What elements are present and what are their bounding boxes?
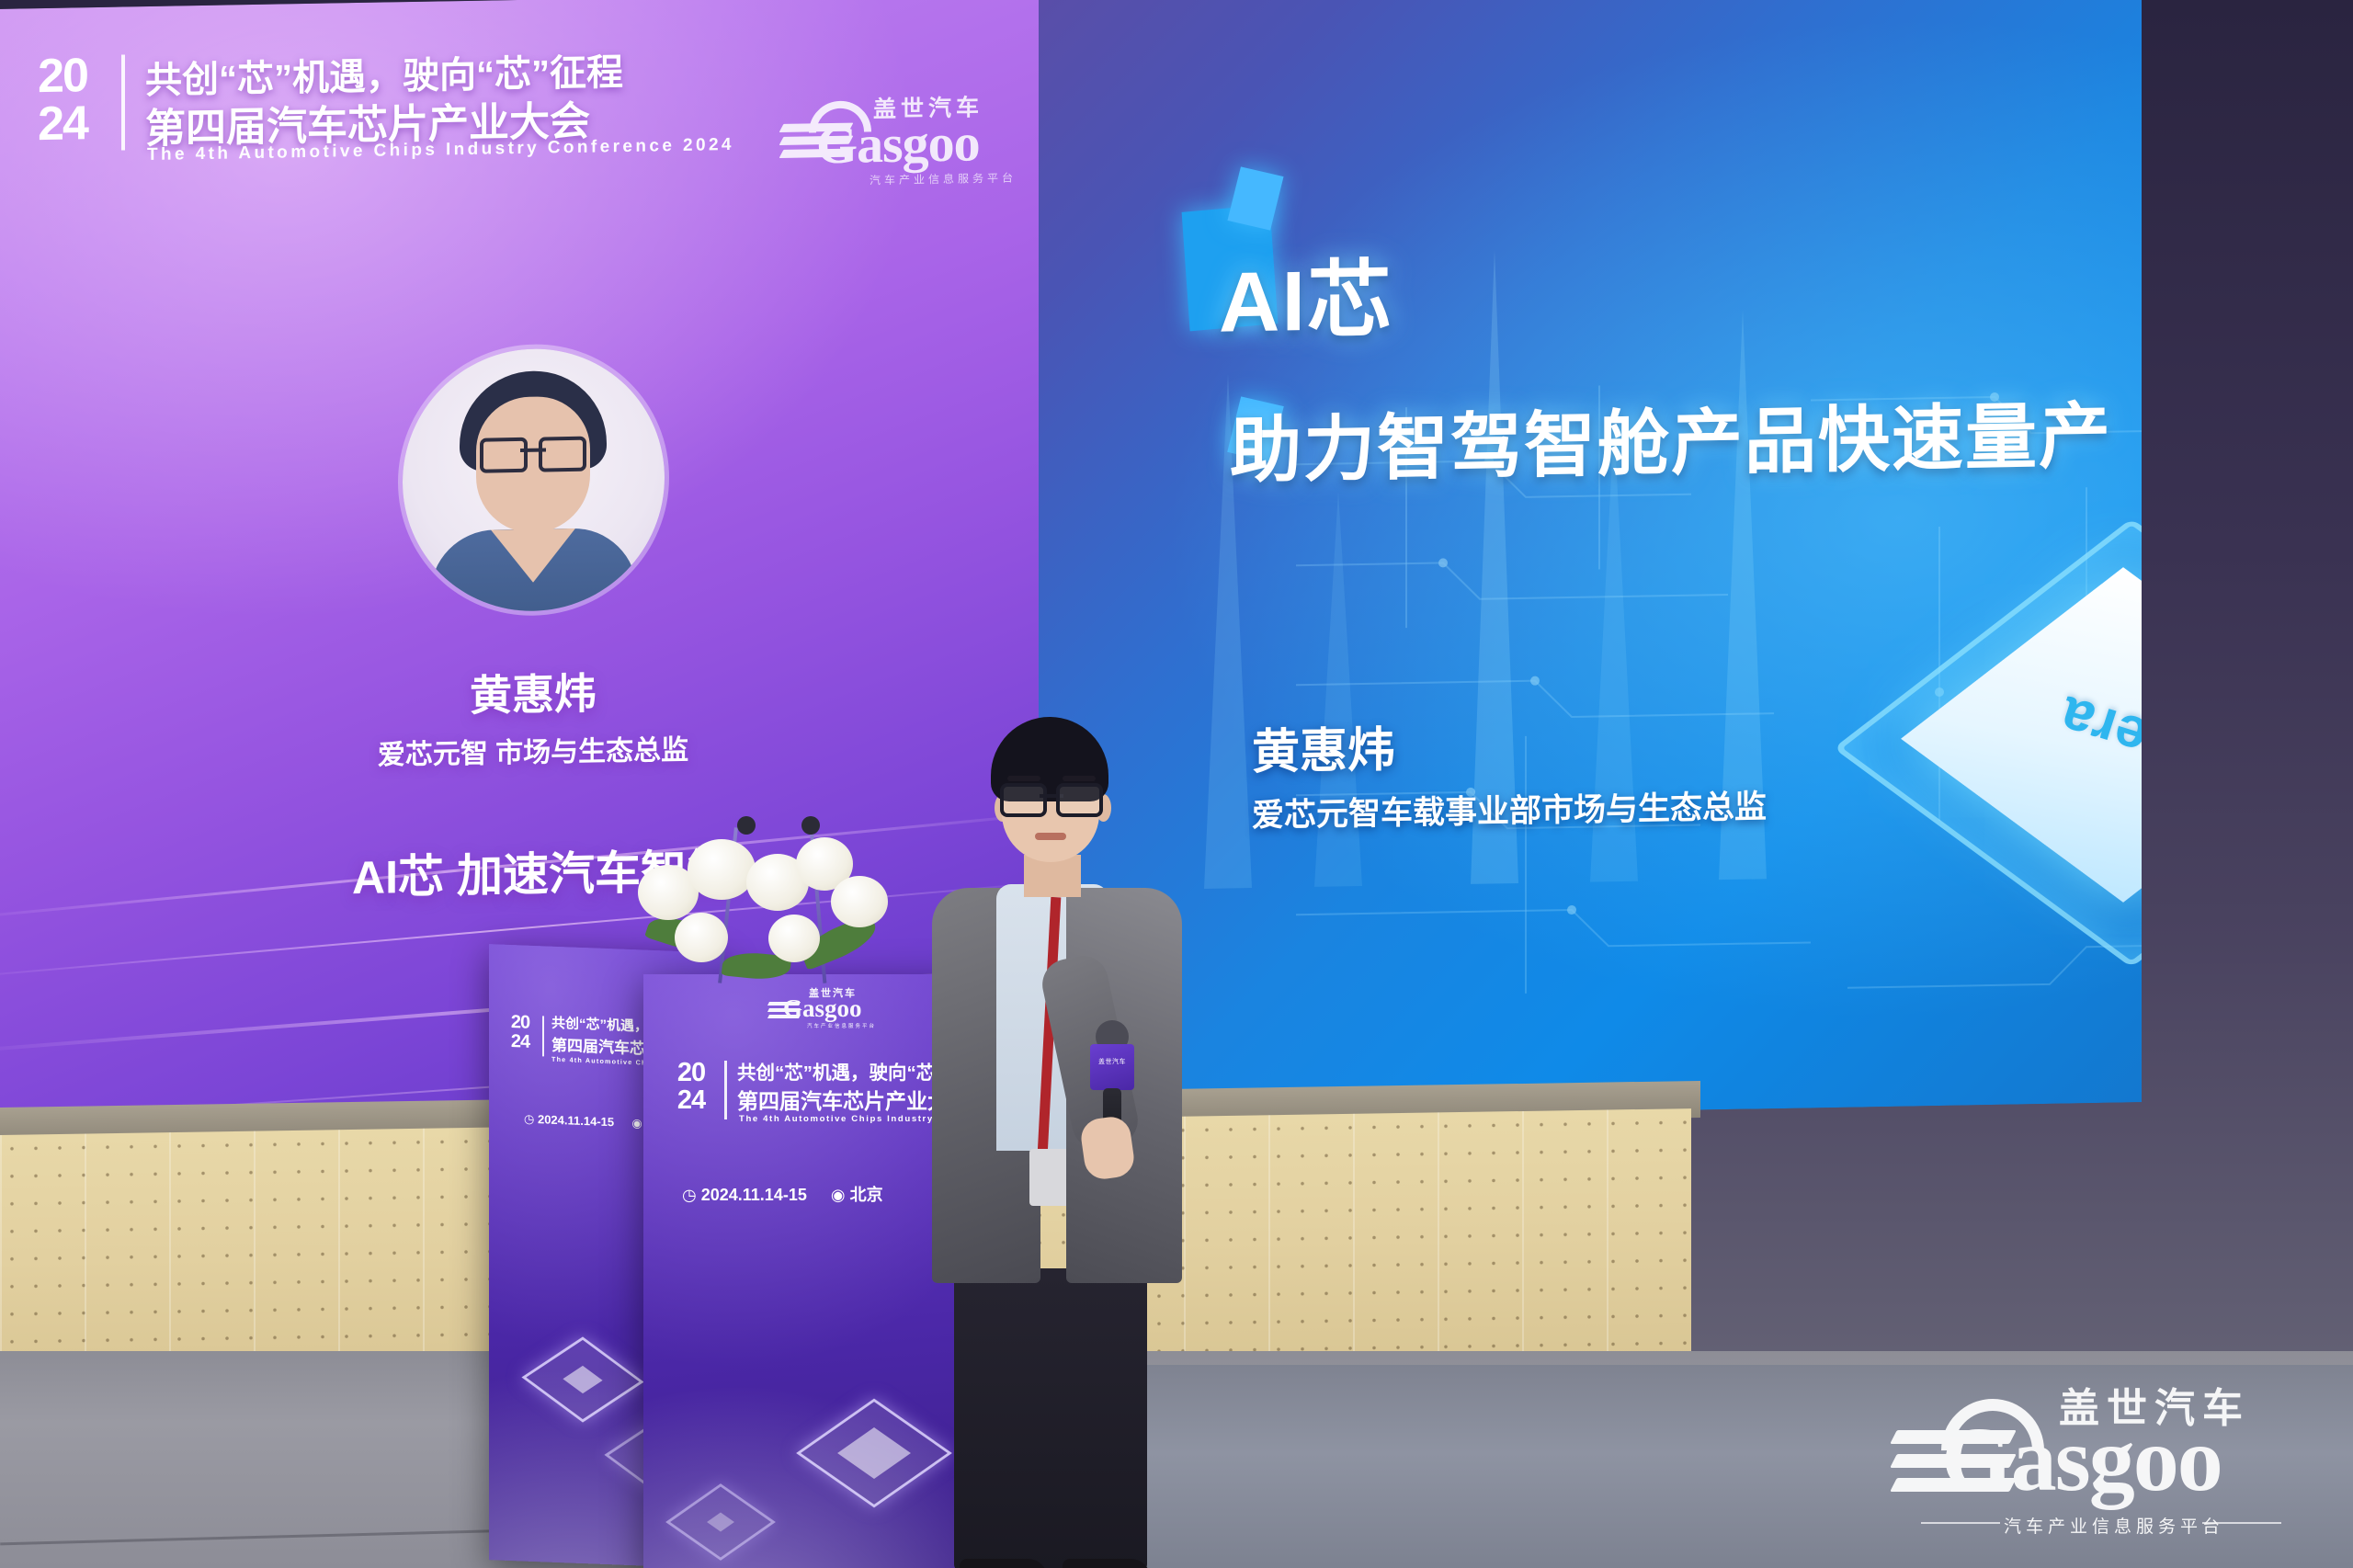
gasgoo-watermark: 盖世汽车 Gasgoo 汽车产业信息服务平台 bbox=[1893, 1375, 2298, 1540]
gasgoo-tagline: 汽车产业信息服务平台 bbox=[870, 170, 1017, 188]
presentation-title-line2: 助力智驾智舱产品快速量产 bbox=[1230, 379, 2112, 497]
podium-meta: ◷ 2024.11.14-15 ◉ 北京 bbox=[682, 1182, 883, 1206]
gasgoo-tagline: 汽车产业信息服务平台 bbox=[807, 1022, 876, 1029]
speaker-trousers bbox=[954, 1268, 1147, 1568]
speaker-shoe bbox=[960, 1559, 1048, 1568]
speaker-badge bbox=[1029, 1149, 1070, 1206]
clock-icon: ◷ bbox=[524, 1112, 534, 1126]
speaker-mouth bbox=[1035, 833, 1066, 840]
flower bbox=[831, 876, 888, 927]
gasgoo-logo-screen: 盖世汽车 Gasgoo 汽车产业信息服务平台 bbox=[781, 92, 1020, 179]
flower bbox=[768, 915, 820, 962]
mic-flag-label: 盖世汽车 bbox=[1095, 1057, 1130, 1066]
podium-divider bbox=[542, 1016, 544, 1056]
podium-year-badge: 2024 bbox=[502, 1013, 539, 1053]
speaker-eyebrow bbox=[1063, 776, 1096, 781]
avatar-glasses-icon bbox=[480, 437, 586, 466]
screen-speaker-name: 黄惠炜 bbox=[285, 657, 781, 726]
event-year-badge: 20 24 bbox=[17, 51, 108, 154]
flower bbox=[675, 913, 728, 962]
location-pin-icon: ◉ bbox=[631, 1116, 642, 1130]
speaker-avatar bbox=[403, 347, 665, 613]
podium-date: 2024.11.14-15 bbox=[701, 1186, 807, 1204]
podium-year-badge: 2024 bbox=[665, 1059, 717, 1114]
watermark-en-name: Gasgoo bbox=[1941, 1414, 2222, 1506]
header-divider bbox=[121, 54, 125, 150]
gasgoo-bars-icon bbox=[768, 1002, 801, 1020]
gasgoo-en-name: Gasgoo bbox=[816, 111, 980, 176]
mic-flag: 盖世汽车 bbox=[1090, 1044, 1134, 1090]
speaker-person: 盖世汽车 bbox=[928, 717, 1186, 1480]
podium-date: 2024.11.14-15 bbox=[538, 1112, 614, 1129]
watermark-tagline: 汽车产业信息服务平台 bbox=[2004, 1513, 2224, 1538]
axera-chip-graphic: Axera bbox=[1930, 539, 2142, 941]
podium-divider bbox=[724, 1061, 727, 1119]
podium-location: 北京 bbox=[850, 1186, 883, 1204]
speaker-shoe bbox=[1063, 1559, 1151, 1568]
flower-arrangement bbox=[634, 832, 901, 997]
presentation-speaker-title: 爱芯元智车载事业部市场与生态总监 bbox=[1252, 780, 1767, 836]
conference-photo: 20 24 共创“芯”机遇，驶向“芯”征程 第四届汽车芯片产业大会 The 4t… bbox=[0, 0, 2353, 1568]
presentation-speaker-name: 黄惠炜 bbox=[1252, 710, 1395, 782]
speaker-eyebrow bbox=[1007, 776, 1040, 781]
watermark-rule bbox=[1921, 1522, 2000, 1524]
speaker-glasses-icon bbox=[1000, 783, 1103, 811]
clock-icon: ◷ bbox=[682, 1186, 697, 1204]
location-pin-icon: ◉ bbox=[831, 1186, 846, 1204]
presentation-title-line1: AI芯 bbox=[1219, 231, 1393, 356]
flower bbox=[688, 839, 756, 900]
